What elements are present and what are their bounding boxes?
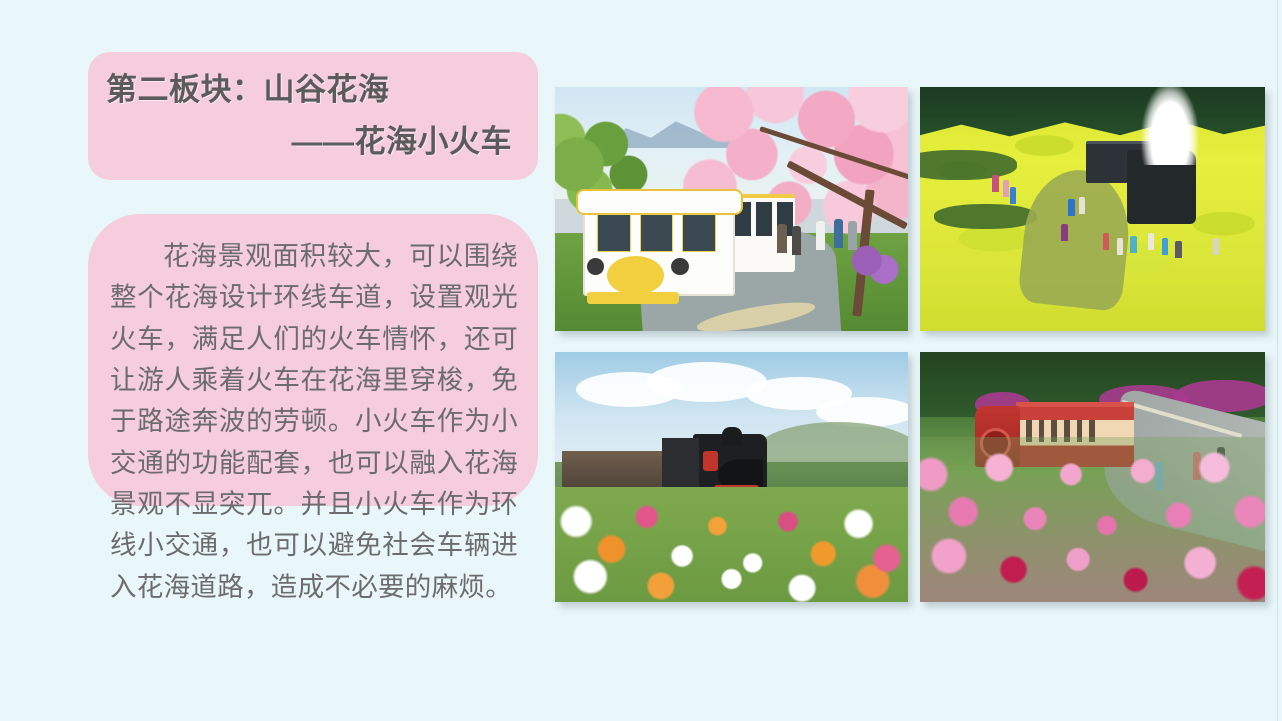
photo-top-right-scene (920, 87, 1265, 331)
photo-bottom-right (920, 352, 1265, 602)
slide-canvas: 第二板块：山谷花海 ——花海小火车 花海景观面积较大，可以围绕整个花海设计环线车… (0, 0, 1282, 721)
hedge-row (934, 204, 1038, 228)
visitor (1061, 224, 1067, 241)
visitor (792, 226, 801, 255)
locomotive-roof (576, 189, 742, 215)
headlamp-right (671, 258, 689, 275)
visitor (1117, 238, 1123, 255)
locomotive-window (597, 214, 631, 253)
smoke-stack (722, 427, 742, 447)
locomotive-window (682, 214, 716, 253)
visitor (992, 175, 998, 192)
photo-bottom-left-scene (555, 352, 908, 602)
photo-bottom-right-scene (920, 352, 1265, 602)
visitor (1148, 233, 1154, 250)
locomotive-cab (662, 438, 699, 494)
visitor (1103, 233, 1109, 250)
section-body-paragraph: 花海景观面积较大，可以围绕整个花海设计环线车道，设置观光火车，满足人们的火车情怀… (110, 236, 518, 608)
section-title-line-2: ——花海小火车 (106, 122, 516, 162)
photo-top-left (555, 87, 908, 331)
visitor (1213, 238, 1219, 255)
visitor (1010, 187, 1016, 204)
front-bumper (587, 292, 679, 304)
visitor (1162, 238, 1168, 255)
visitor (1175, 241, 1181, 258)
visitor (1130, 236, 1136, 253)
visitor (777, 224, 786, 253)
visitor (1068, 199, 1074, 216)
section-title-card: 第二板块：山谷花海 ——花海小火车 (88, 52, 538, 180)
visitor (816, 221, 825, 250)
red-trim (703, 451, 717, 471)
carriage-window (756, 202, 772, 236)
right-edge-rule (1277, 0, 1278, 721)
section-title-line-1: 第二板块：山谷花海 (106, 70, 516, 110)
locomotive-window (640, 214, 674, 253)
section-body-card: 花海景观面积较大，可以围绕整个花海设计环线车道，设置观光火车，满足人们的火车情怀… (88, 214, 538, 506)
visitor (834, 219, 843, 248)
mixed-cosmos-field (555, 487, 908, 602)
visitor (848, 221, 857, 250)
photo-top-right (920, 87, 1265, 331)
photo-bottom-left (555, 352, 908, 602)
photo-top-left-scene (555, 87, 908, 331)
visitor (1079, 197, 1085, 214)
pink-cosmos-field (920, 437, 1265, 602)
visitor (1003, 180, 1009, 197)
hedge-row (920, 150, 1017, 179)
steam-plume (1141, 87, 1200, 165)
headlamp-left (587, 258, 605, 275)
